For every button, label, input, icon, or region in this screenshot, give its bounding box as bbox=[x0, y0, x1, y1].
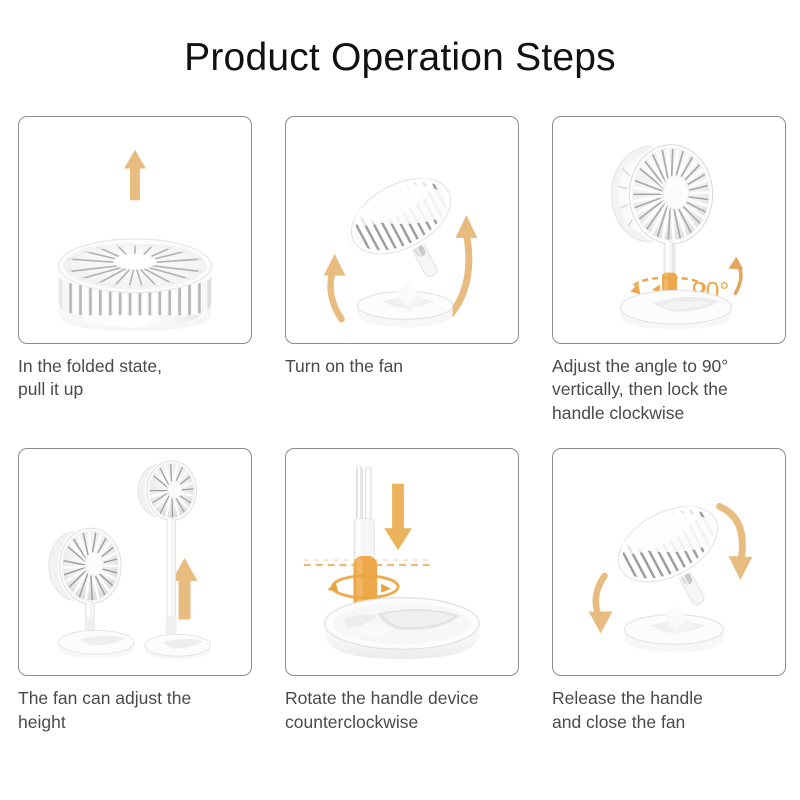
steps-grid: In the folded state, pull it up bbox=[18, 116, 786, 734]
step-illustration-5 bbox=[285, 448, 519, 676]
step-card-1: In the folded state, pull it up bbox=[18, 116, 252, 425]
steps-row-bottom: The fan can adjust the height bbox=[18, 448, 786, 734]
step-illustration-2 bbox=[285, 116, 519, 344]
step-caption-2: Turn on the fan bbox=[285, 355, 519, 378]
product-instruction-page: Product Operation Steps bbox=[0, 0, 800, 800]
step-illustration-6 bbox=[552, 448, 786, 676]
arrow-curved-up-right-icon bbox=[452, 215, 478, 313]
arrow-curved-up-left-icon bbox=[324, 254, 346, 319]
step-card-2: Turn on the fan bbox=[285, 116, 519, 425]
angle-rotate-arrow-icon bbox=[728, 257, 743, 294]
step-caption-3: Adjust the angle to 90° vertically, then… bbox=[552, 355, 786, 425]
step-illustration-3: 90° bbox=[552, 116, 786, 344]
step-caption-5: Rotate the handle device counterclockwis… bbox=[285, 687, 519, 734]
arrow-down-icon bbox=[384, 484, 412, 550]
step-caption-6: Release the handle and close the fan bbox=[552, 687, 786, 734]
arrow-curved-down-left-icon bbox=[589, 576, 613, 633]
step-card-6: Release the handle and close the fan bbox=[552, 448, 786, 734]
step-card-3: 90° Adjust the angle to 90° vertically, … bbox=[552, 116, 786, 425]
arrow-up-icon bbox=[124, 150, 146, 201]
step-illustration-4 bbox=[18, 448, 252, 676]
arrow-curved-down-right-icon bbox=[720, 507, 753, 580]
page-title: Product Operation Steps bbox=[0, 36, 800, 80]
step-card-4: The fan can adjust the height bbox=[18, 448, 252, 734]
step-caption-1: In the folded state, pull it up bbox=[18, 355, 252, 402]
step-card-5: Rotate the handle device counterclockwis… bbox=[285, 448, 519, 734]
steps-row-top: In the folded state, pull it up bbox=[18, 116, 786, 425]
step-caption-4: The fan can adjust the height bbox=[18, 687, 252, 734]
step-illustration-1 bbox=[18, 116, 252, 344]
